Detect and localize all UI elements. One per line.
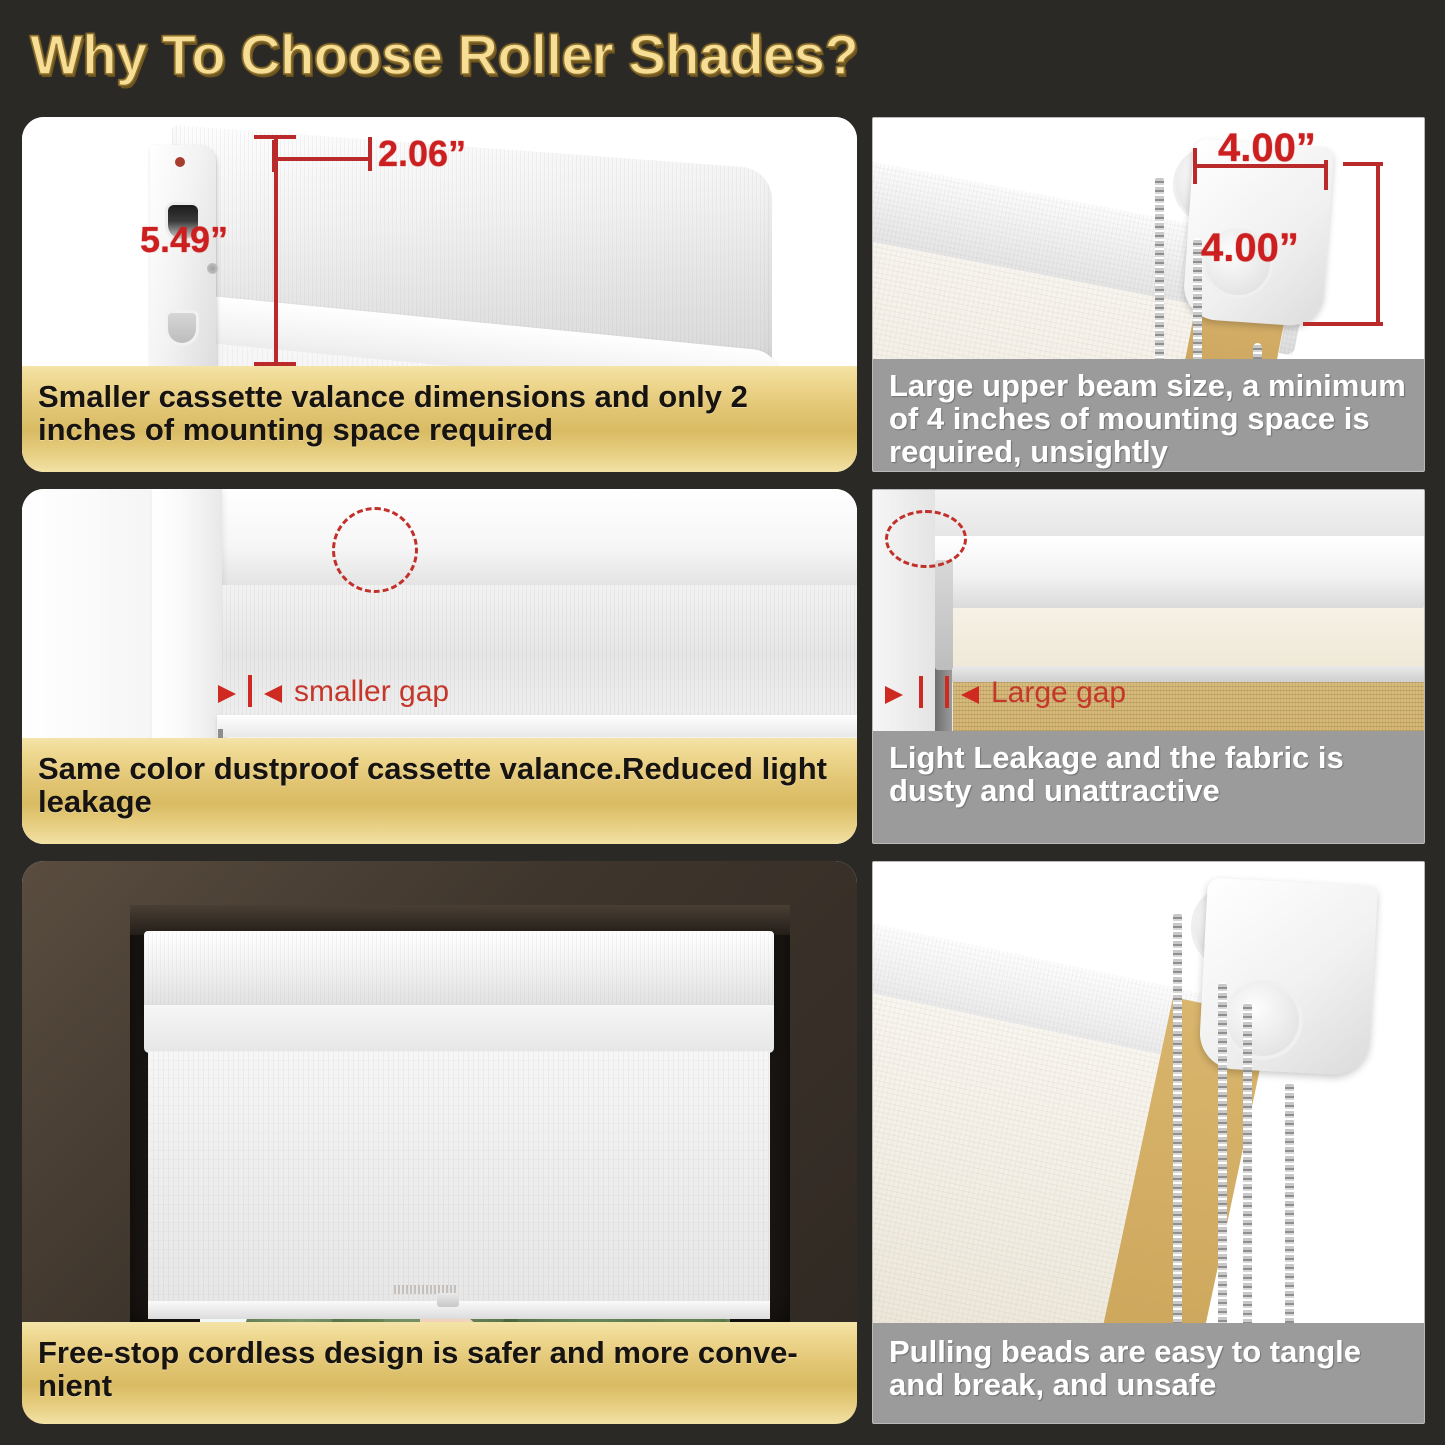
gap-arrow-right-icon (264, 685, 282, 703)
dim-height-line (274, 137, 278, 367)
caption-panel-5: Free-stop cordless design is safer and m… (22, 1322, 857, 1424)
caption-panel-4: Light Leakage and the fabric is dusty an… (873, 731, 1424, 843)
gap-arrow-right-icon (961, 686, 979, 704)
gap-arrow-left-icon (885, 686, 903, 704)
dimension-label-width: 2.06” (378, 133, 466, 175)
shade-bottom-rail (148, 1301, 770, 1319)
highlight-circle-icon (332, 507, 418, 593)
caption-panel-2: Large upper beam size, a minimum of 4 in… (873, 359, 1424, 471)
bead-chain-right (1285, 1082, 1294, 1332)
gap-label-large: Large gap (991, 676, 1126, 710)
panel-dustproof-valance: smaller gap Same color dustproof cassett… (22, 489, 857, 844)
caption-panel-1: Smaller cassette valance dimensions and … (22, 366, 857, 472)
panel-large-upper-beam: 4.00” 4.00” Large upper beam size, a min… (872, 117, 1425, 472)
highlight-circle-icon (885, 510, 967, 568)
upper-beam-shape (935, 536, 1424, 610)
dim2-height-line (1376, 164, 1380, 326)
caption-panel-6: Pulling beads are easy to tangle and bre… (873, 1323, 1424, 1423)
dimension-label-height-4in: 4.00” (1201, 226, 1299, 271)
bracket-red-marker (175, 157, 185, 167)
caption-panel-3: Same color dustproof cassette valance.Re… (22, 738, 857, 844)
panel-smaller-cassette: 2.06” 5.49” Smaller cassette valance dim… (22, 117, 857, 472)
bead-chain-middle (1218, 982, 1227, 1332)
beam-second-layer (951, 608, 1424, 670)
window-frame-top (152, 489, 857, 585)
shade-pull-tab (437, 1293, 459, 1307)
panel-pulling-beads: Pulling beads are easy to tangle and bre… (872, 861, 1425, 1424)
bracket-slot-lower (168, 313, 196, 343)
dim2-height-tick-top (1343, 162, 1383, 166)
gap-label-small: smaller gap (294, 675, 449, 709)
gap-tick-mark-right (945, 676, 949, 708)
dim-width-tick-right (368, 137, 372, 171)
shade-head-rail (144, 931, 774, 1009)
shade-valance (144, 1005, 774, 1053)
gap-arrow-left-icon (218, 685, 236, 703)
valance-bottom-bar (217, 715, 857, 737)
bracket-screw (207, 263, 218, 274)
title-bar: Why To Choose Roller Shades? (0, 0, 1445, 108)
dim-height-tick-top (254, 135, 296, 139)
dim2-width-tick-right (1324, 160, 1328, 190)
panel-cordless-design: Free-stop cordless design is safer and m… (22, 861, 857, 1424)
bead-chain-left (1173, 912, 1182, 1332)
shade-body-fabric (148, 1051, 770, 1313)
dimension-label-width-4in: 4.00” (1218, 126, 1316, 171)
dimension-label-height: 5.49” (140, 219, 228, 261)
bracket-hanger-shape (935, 560, 953, 670)
dim-width-line (272, 157, 372, 161)
gap-tick-mark-left (919, 676, 923, 708)
roller-endcap-lower (1223, 980, 1303, 1060)
dim2-height-tick-bottom (1303, 322, 1383, 326)
page-title: Why To Choose Roller Shades? (30, 22, 858, 87)
bead-chain-middle-2 (1243, 1002, 1252, 1332)
gap-tick-mark (248, 675, 252, 707)
panel-light-leakage: Large gap Light Leakage and the fabric i… (872, 489, 1425, 844)
